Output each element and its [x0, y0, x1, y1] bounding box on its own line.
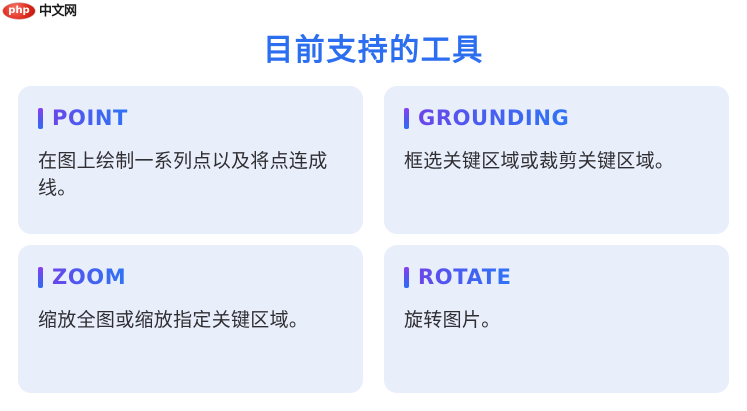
tool-title: GROUNDING [418, 108, 569, 129]
accent-bar-icon [38, 108, 43, 129]
tool-card-header: ROTATE [404, 267, 709, 288]
tool-card-header: POINT [38, 108, 343, 129]
tool-title: ROTATE [418, 267, 512, 288]
tool-card-header: GROUNDING [404, 108, 709, 129]
accent-bar-icon [38, 267, 43, 288]
tool-description: 旋转图片。 [404, 307, 709, 334]
tool-card-rotate: ROTATE 旋转图片。 [384, 245, 729, 393]
site-watermark: php 中文网 [3, 2, 77, 20]
tool-title: ZOOM [52, 267, 126, 288]
accent-bar-icon [404, 267, 409, 288]
php-logo-icon: php [3, 3, 35, 19]
tool-description: 框选关键区域或裁剪关键区域。 [404, 148, 709, 175]
tool-card-grounding: GROUNDING 框选关键区域或裁剪关键区域。 [384, 86, 729, 234]
tool-card-point: POINT 在图上绘制一系列点以及将点连成线。 [18, 86, 363, 234]
tool-title: POINT [52, 108, 128, 129]
page-title: 目前支持的工具 [0, 34, 747, 67]
tool-card-grid: POINT 在图上绘制一系列点以及将点连成线。 GROUNDING 框选关键区域… [18, 86, 729, 393]
tool-card-header: ZOOM [38, 267, 343, 288]
tool-card-zoom: ZOOM 缩放全图或缩放指定关键区域。 [18, 245, 363, 393]
tool-description: 在图上绘制一系列点以及将点连成线。 [38, 148, 343, 202]
tool-description: 缩放全图或缩放指定关键区域。 [38, 307, 343, 334]
watermark-label: 中文网 [39, 5, 77, 18]
accent-bar-icon [404, 108, 409, 129]
